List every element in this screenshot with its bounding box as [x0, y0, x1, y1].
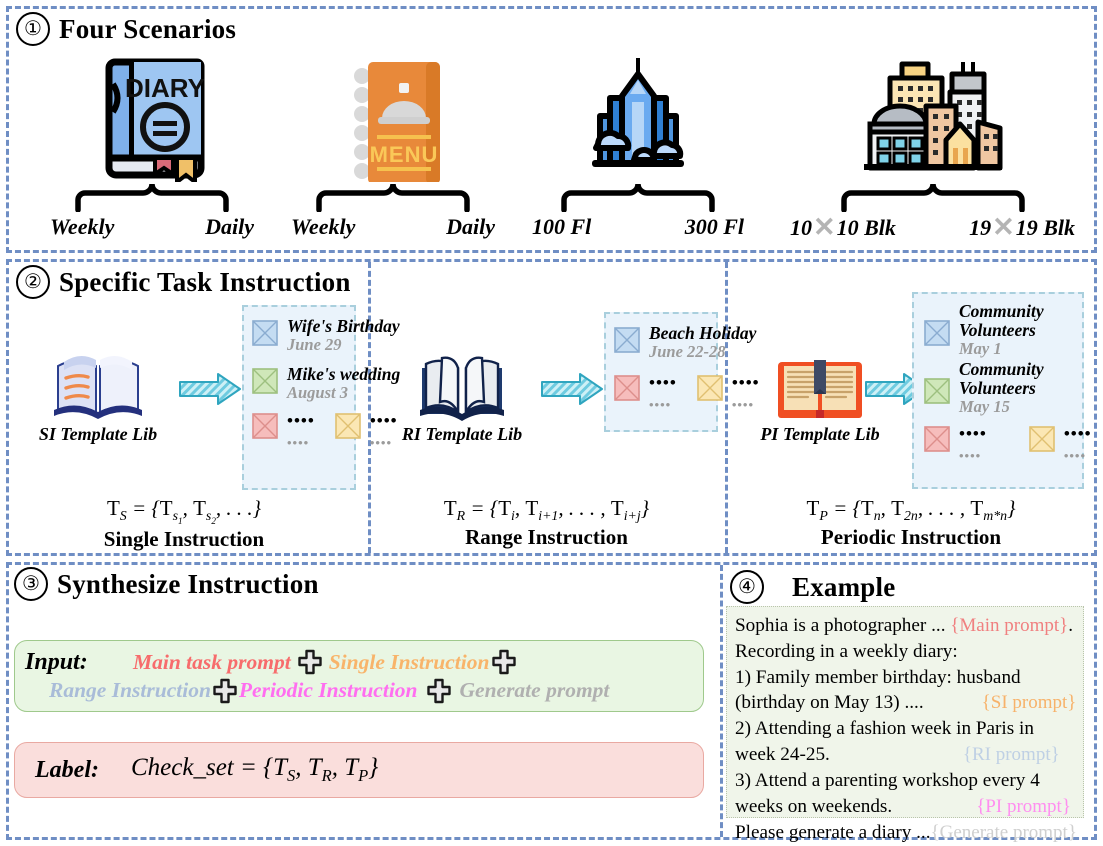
si-ph1-dots: •••• [287, 413, 315, 428]
example-line-1: Sophia is a photographer ... {Main promp… [735, 613, 1075, 639]
scenario-labels-2: Weekly Daily [283, 214, 503, 240]
example-tag-ri: {RI prompt} [963, 744, 1060, 765]
pi-placeholder-2-text: •••• •••• [1064, 426, 1092, 462]
scenario-label-right-4: 19 ✕ 19 Blk [969, 214, 1075, 241]
swatch-red-icon [252, 413, 278, 439]
section-heading-2: ② Specific Task Instruction [16, 265, 351, 299]
svg-text:DIARY: DIARY [125, 73, 205, 103]
scenario-brace-2 [283, 182, 503, 212]
pi-ph2-dots: •••• [1064, 426, 1092, 441]
swatch-yellow-icon [1029, 426, 1055, 452]
section-title-4: Example [792, 572, 895, 603]
ri-placeholder-1: •••• •••• [614, 375, 677, 411]
ri-template-lib: RI Template Lib [382, 352, 542, 445]
swatch-blue-icon [252, 320, 278, 346]
chip-periodic-instruction: Periodic Instruction [239, 678, 418, 703]
scenario-brace-1 [42, 182, 262, 212]
diary-book-icon-wrap: DIARY [42, 52, 262, 182]
swatch-red-icon [924, 426, 950, 452]
pi-formula-block: TP = {Tn, T2n, . . . , Tm*n} Periodic In… [725, 496, 1097, 550]
example-line-2: Recording in a weekly diary: [735, 639, 1075, 665]
multiply-icon: ✕ [992, 214, 1015, 241]
scenario-label-right-2: Daily [446, 214, 495, 240]
si-entry-1-text: Wife's Birthday June 29 [287, 317, 400, 354]
pi-entry-1-text: Community Volunteers May 1 [959, 302, 1044, 358]
open-book-blue-icon-wrap [18, 352, 178, 422]
label-label: Label: [35, 757, 131, 784]
chip-main-task-prompt: Main task prompt [133, 650, 291, 675]
ri-formula: TR = {Ti, Ti+1, . . . , Ti+j} [368, 496, 725, 524]
input-label: Input: [25, 649, 133, 676]
example-tag-main: {Main prompt} [950, 615, 1068, 636]
example-line-4: (birthday on May 13) ....{SI prompt} [735, 690, 1075, 716]
open-book-gray-icon [416, 352, 508, 422]
example-line-7: 3) Attend a parenting workshop every 4 [735, 768, 1075, 794]
scenario-diary: DIARY Weekly Daily [42, 52, 262, 240]
example-line-6: week 24-25.{RI prompt} [735, 742, 1075, 768]
swatch-green-icon [924, 378, 950, 404]
section-title-3: Synthesize Instruction [57, 569, 319, 600]
skyscraper-icon [576, 54, 700, 182]
ri-lib-caption: RI Template Lib [382, 424, 542, 445]
scenario-label-left-3: 100 Fl [532, 214, 591, 240]
section-heading-1: ① Four Scenarios [16, 12, 236, 46]
ri-caption: Range Instruction [368, 525, 725, 550]
example-box: Sophia is a photographer ... {Main promp… [726, 606, 1084, 818]
city-blocks-icon [858, 54, 1008, 182]
si-card: Wife's Birthday June 29 Mike's wedding A… [242, 305, 356, 490]
chip-single-instruction: Single Instruction [329, 650, 490, 675]
example-line-9-text: Please generate a diary ... [735, 822, 931, 843]
ri-ph1-dots: •••• [649, 375, 677, 390]
ri-ph1-subdots: •••• [649, 399, 677, 411]
pi-ph2-subdots: •••• [1064, 450, 1092, 462]
pi-caption: Periodic Instruction [725, 525, 1097, 550]
pi-entry-2-title-line1: Community [959, 360, 1044, 379]
example-line-5: 2) Attending a fashion week in Paris in [735, 716, 1075, 742]
example-line-1-text: Sophia is a photographer ... [735, 615, 950, 636]
plus-icon [491, 649, 517, 675]
si-entry-1: Wife's Birthday June 29 [252, 317, 348, 354]
scenario-label-right-3: 300 Fl [685, 214, 744, 240]
city-left-count: 10 [790, 215, 812, 241]
section-number-icon-1: ① [16, 12, 50, 46]
menu-notebook-icon-wrap: MENU [283, 52, 503, 182]
swatch-blue-icon [924, 320, 950, 346]
curly-brace-icon [838, 184, 1028, 212]
diary-book-icon: DIARY [93, 54, 211, 182]
ri-placeholder-1-text: •••• •••• [649, 375, 677, 411]
open-book-blue-icon [52, 352, 144, 422]
section-number-icon-3: ③ [14, 567, 48, 601]
plus-icon [426, 678, 452, 704]
example-tag-si: {SI prompt} [982, 692, 1077, 713]
pi-entry-2-date: May 15 [959, 398, 1044, 416]
ri-card: Beach Holiday June 22-28 •••• •••• [604, 312, 718, 432]
svg-text:MENU: MENU [370, 142, 439, 167]
si-entry-2: Mike's wedding August 3 [252, 365, 348, 402]
pi-entry-1-date: May 1 [959, 340, 1044, 358]
scenario-brace-4 [790, 182, 1075, 212]
city-blocks-icon-wrap [790, 52, 1075, 182]
plus-icon [212, 678, 238, 704]
ri-formula-block: TR = {Ti, Ti+1, . . . , Ti+j} Range Inst… [368, 496, 725, 550]
pi-formula: TP = {Tn, T2n, . . . , Tm*n} [725, 496, 1097, 524]
panel3-4-divider [720, 565, 723, 837]
si-lib-caption: SI Template Lib [18, 424, 178, 445]
chip-generate-prompt: Generate prompt [460, 678, 610, 703]
example-tag-pi: {PI prompt} [976, 796, 1071, 817]
scenario-label-right-1: Daily [205, 214, 254, 240]
pi-ph1-dots: •••• [959, 426, 987, 441]
example-line-6-text: week 24-25. [735, 744, 830, 765]
curly-brace-icon [558, 184, 718, 212]
pi-entry-1-title-line2: Volunteers [959, 321, 1044, 340]
example-line-8-text: weeks on weekends. [735, 796, 892, 817]
input-box: Input: Main task prompt Single Instructi… [14, 640, 704, 712]
label-box: Label: Check_set = {TS, TR, TP} [14, 742, 704, 798]
pi-entry-2-text: Community Volunteers May 15 [959, 360, 1044, 416]
example-line-4-text: (birthday on May 13) .... [735, 692, 924, 713]
ri-entry-1: Beach Holiday June 22-28 [614, 324, 710, 361]
section-heading-3: ③ Synthesize Instruction [14, 567, 319, 601]
scenario-menu: MENU Weekly Daily [283, 52, 503, 240]
curly-brace-icon [313, 184, 473, 212]
scenario-brace-3 [528, 182, 748, 212]
label-formula: Check_set = {TS, TR, TP} [131, 754, 378, 786]
swatch-red-icon [614, 375, 640, 401]
si-entry-1-title: Wife's Birthday [287, 317, 400, 336]
swatch-yellow-icon [335, 413, 361, 439]
section-number-icon-2: ② [16, 265, 50, 299]
pi-entry-2-title-line2: Volunteers [959, 379, 1044, 398]
swatch-yellow-icon [697, 375, 723, 401]
pi-placeholder-1: •••• •••• [924, 426, 987, 462]
example-line-3: 1) Family member birthday: husband [735, 665, 1075, 691]
ri-arrow-icon [540, 372, 604, 406]
pi-placeholder-1-text: •••• •••• [959, 426, 987, 462]
figure-canvas: ① Four Scenarios DIARY [0, 0, 1103, 846]
ri-entry-1-title: Beach Holiday [649, 324, 756, 343]
example-line-9: Please generate a diary ...{Generate pro… [735, 820, 1075, 846]
scenario-label-left-1: Weekly [50, 214, 114, 240]
pi-card: Community Volunteers May 1 Community Vol… [912, 292, 1084, 489]
scenario-label-left-4: 10 ✕ 10 Blk [790, 214, 896, 241]
si-formula-block: TS = {Ts1, Ts2, . . .} Single Instructio… [0, 496, 368, 552]
si-caption: Single Instruction [0, 527, 368, 552]
scenario-labels-4: 10 ✕ 10 Blk 19 ✕ 19 Blk [790, 214, 1075, 241]
multiply-icon: ✕ [813, 214, 836, 241]
skyscraper-icon-wrap [528, 52, 748, 182]
open-book-gray-icon-wrap [382, 352, 542, 422]
curly-brace-icon [72, 184, 232, 212]
example-line-1-tail: . [1068, 615, 1073, 636]
si-template-lib: SI Template Lib [18, 352, 178, 445]
pi-entry-1-title-line1: Community [959, 302, 1044, 321]
scenario-labels-1: Weekly Daily [42, 214, 262, 240]
city-right-count: 19 [969, 215, 991, 241]
pi-entry-1: Community Volunteers May 1 [924, 302, 1076, 358]
section-heading-4: ④ Example [730, 570, 895, 604]
swatch-blue-icon [614, 327, 640, 353]
menu-notebook-icon: MENU [334, 54, 452, 182]
si-placeholder-1: •••• •••• [252, 413, 315, 449]
si-ph1-subdots: •••• [287, 437, 315, 449]
example-line-8: weeks on weekends.{PI prompt} [735, 794, 1075, 820]
chip-range-instruction: Range Instruction [49, 678, 211, 703]
scenario-city: 10 ✕ 10 Blk 19 ✕ 19 Blk [790, 52, 1075, 241]
city-left-unit: 10 Blk [837, 215, 896, 241]
si-formula: TS = {Ts1, Ts2, . . .} [0, 496, 368, 526]
pi-ph1-subdots: •••• [959, 450, 987, 462]
pi-entry-2: Community Volunteers May 15 [924, 360, 1076, 416]
example-tag-generate: {Generate prompt} [931, 822, 1077, 843]
city-right-unit: 19 Blk [1016, 215, 1075, 241]
section-title-1: Four Scenarios [59, 14, 236, 45]
pi-lib-caption: PI Template Lib [740, 424, 900, 445]
si-placeholder-1-text: •••• •••• [287, 413, 315, 449]
section-number-icon-4: ④ [730, 570, 764, 604]
open-book-orange-icon [774, 352, 866, 422]
plus-icon [297, 649, 323, 675]
scenario-labels-3: 100 Fl 300 Fl [528, 214, 748, 240]
si-arrow-icon [178, 372, 242, 406]
pi-placeholder-2: •••• •••• [1029, 426, 1092, 462]
scenario-label-left-2: Weekly [291, 214, 355, 240]
scenario-skyscraper: 100 Fl 300 Fl [528, 52, 748, 240]
section-title-2: Specific Task Instruction [59, 267, 351, 298]
swatch-green-icon [252, 368, 278, 394]
